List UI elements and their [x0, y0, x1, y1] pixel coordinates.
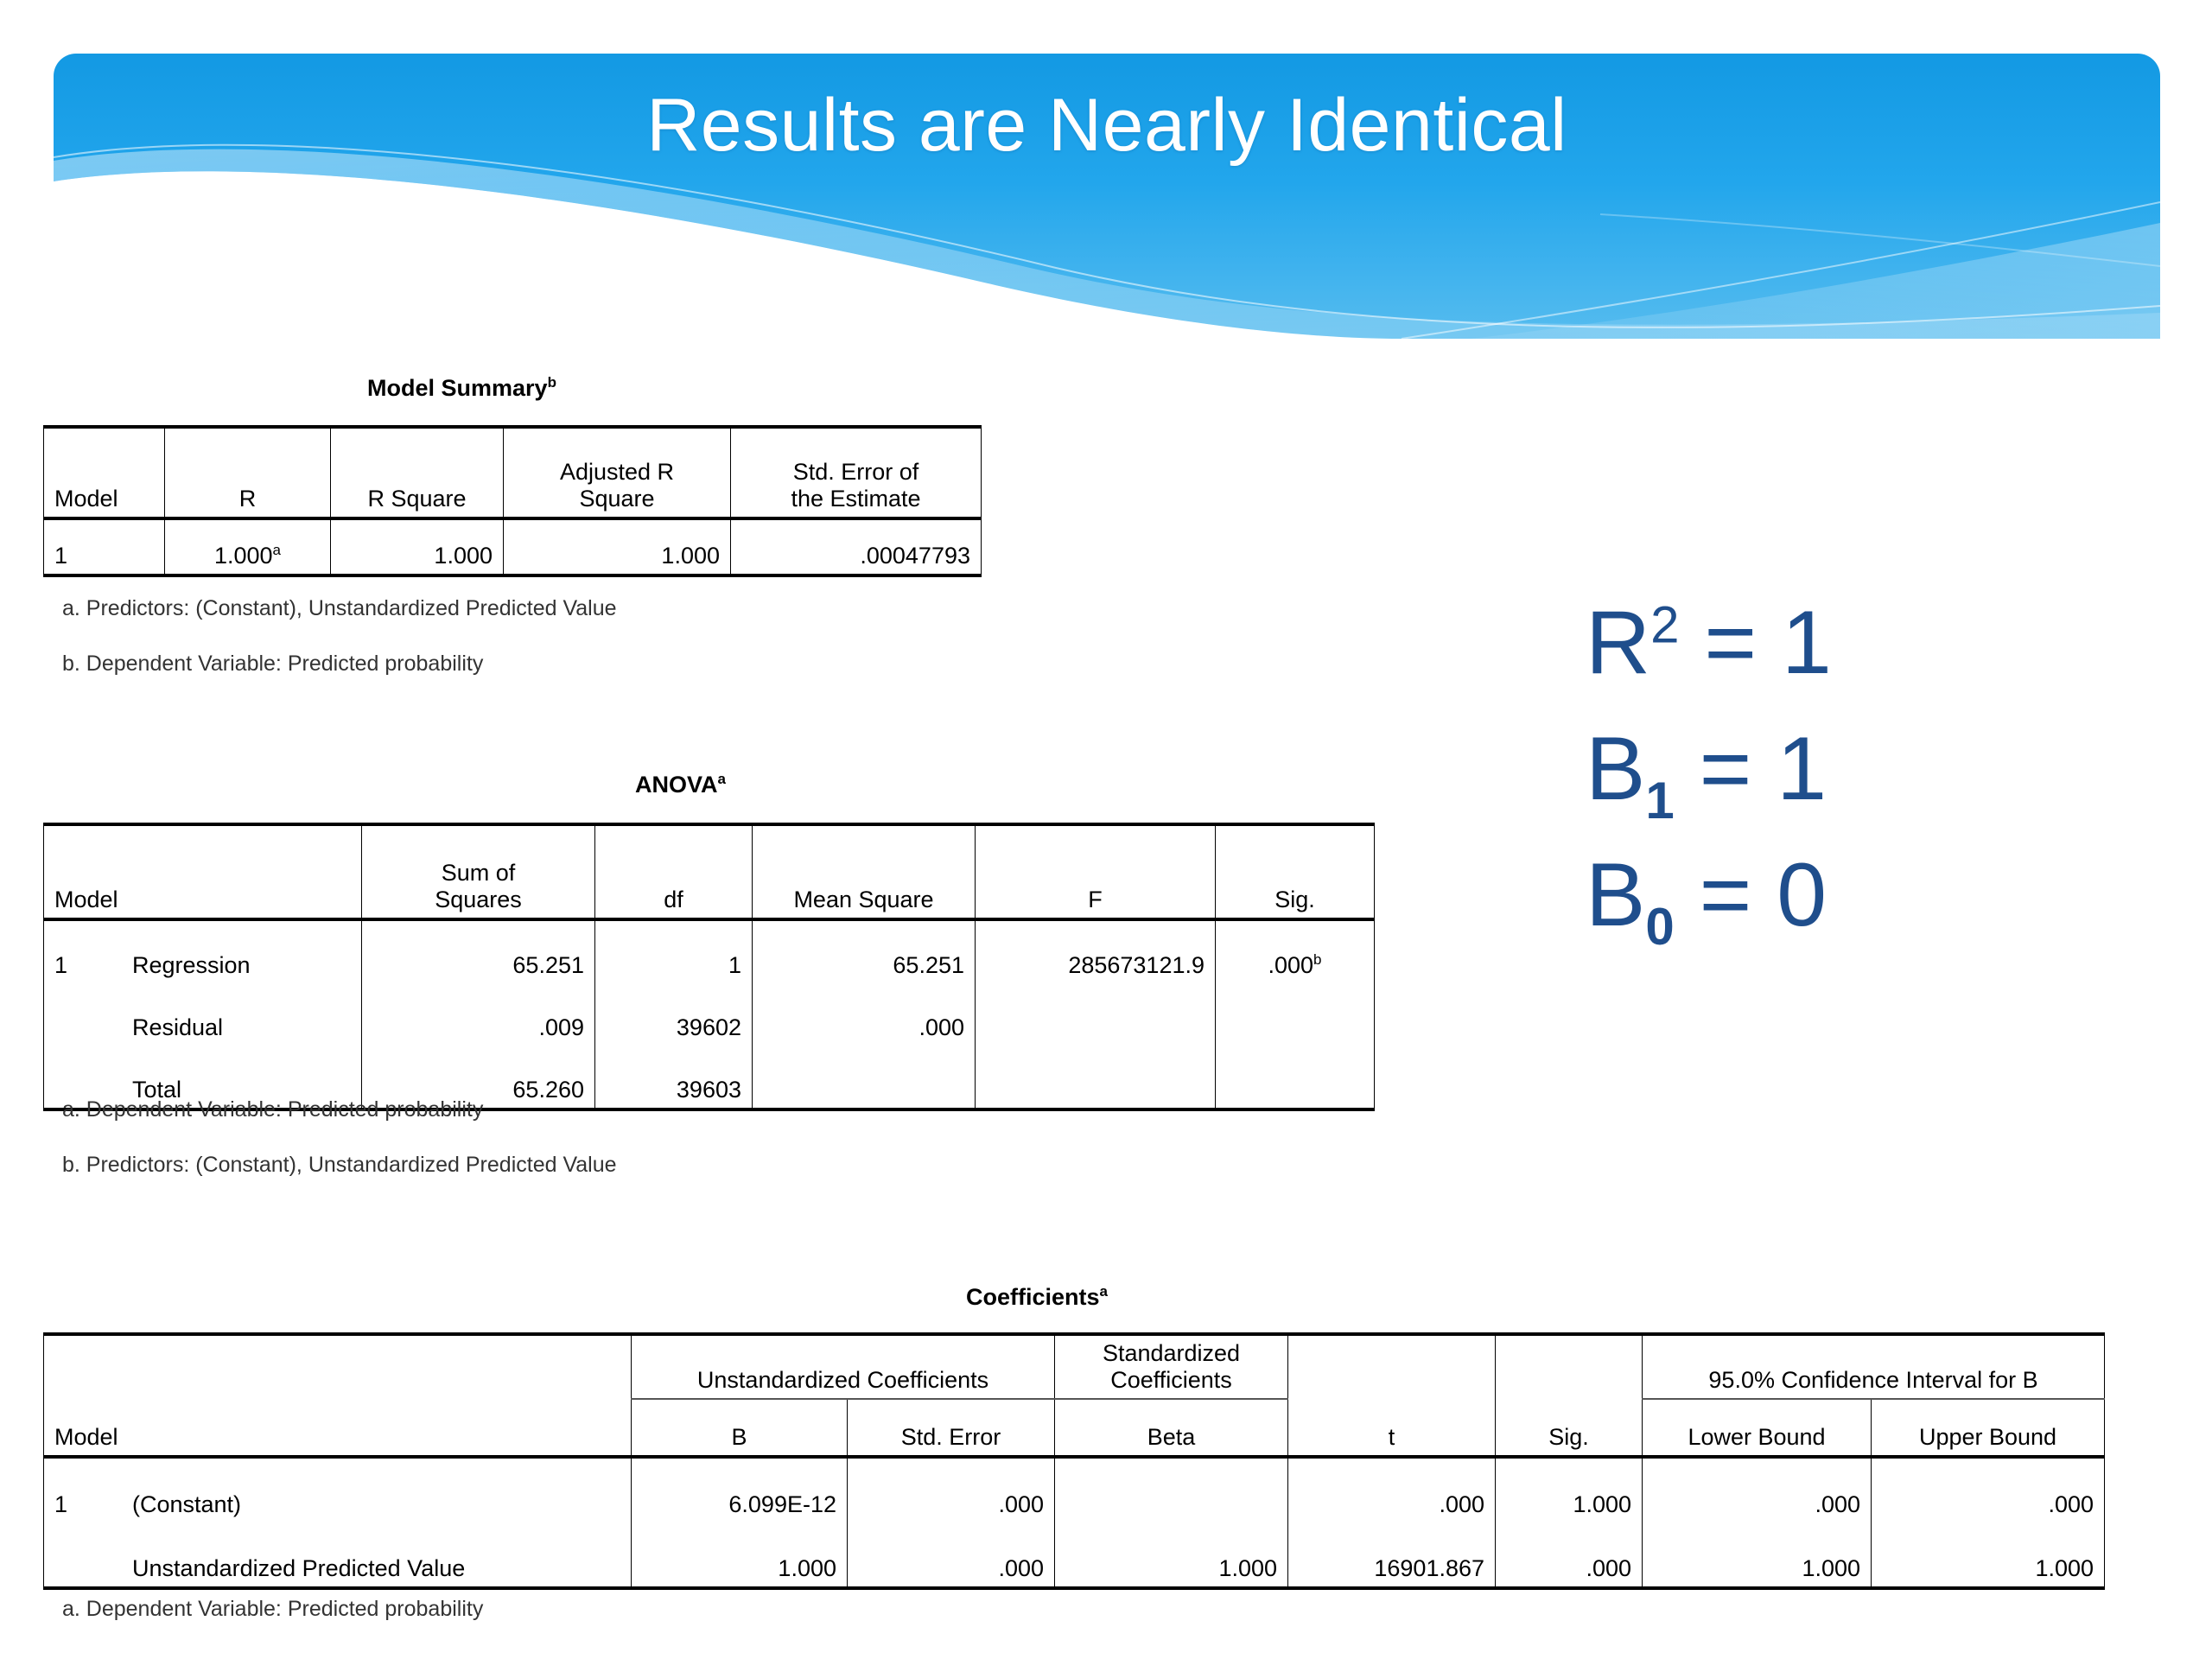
anova-footnote-b: b. Predictors: (Constant), Unstandardize… [62, 1153, 617, 1178]
formula-b1: B1 = 1 [1586, 722, 2069, 816]
cell-df: 39603 [595, 1046, 753, 1109]
page-title: Results are Nearly Identical [54, 78, 2160, 173]
coefficients-table: Model Unstandardized Coefficients Standa… [43, 1332, 2105, 1590]
model-summary-table: Model R R Square Adjusted R Square Std. … [43, 425, 982, 577]
col-header-sig: Sig. [1216, 824, 1375, 919]
table-row: 1(Constant) 6.099E-12 .000 .000 1.000 .0… [44, 1457, 2105, 1522]
cell-model: 1 [44, 518, 165, 575]
col-header-r-square: R Square [331, 427, 504, 518]
anova-table: Model Sum of Squares df Mean Square F Si… [43, 823, 1375, 1111]
table-group-header-row: Model Unstandardized Coefficients Standa… [44, 1334, 2105, 1399]
cell-sig: 1.000 [1496, 1457, 1643, 1522]
cell-std-error: .00047793 [731, 518, 982, 575]
model-summary-title: Model Summaryb [367, 375, 556, 402]
cell-f [976, 983, 1216, 1046]
col-header-upper-bound: Upper Bound [1872, 1399, 2105, 1457]
col-header-model: Model [44, 427, 165, 518]
coefficients-footnote-a: a. Dependent Variable: Predicted probabi… [62, 1597, 483, 1622]
col-header-adjusted-r-square: Adjusted R Square [504, 427, 731, 518]
cell-sig: .000 [1496, 1522, 1643, 1588]
col-header-std-error: Std. Error of the Estimate [731, 427, 982, 518]
cell-mean-square [753, 1046, 976, 1109]
cell-beta: 1.000 [1055, 1522, 1288, 1588]
row-label-residual: Residual [44, 983, 362, 1046]
cell-t: .000 [1288, 1457, 1496, 1522]
col-header-r: R [165, 427, 331, 518]
coefficients-title: Coefficientsa [966, 1284, 1108, 1311]
cell-sig: .000b [1216, 919, 1375, 983]
cell-lower-bound: .000 [1643, 1457, 1872, 1522]
model-summary-footnote-b: b. Dependent Variable: Predicted probabi… [62, 652, 483, 677]
row-label-constant: 1(Constant) [44, 1457, 632, 1522]
col-header-mean-square: Mean Square [753, 824, 976, 919]
cell-df: 1 [595, 919, 753, 983]
cell-f [976, 1046, 1216, 1109]
row-label-unstandardized-predicted-value: Unstandardized Predicted Value [44, 1522, 632, 1588]
cell-sig [1216, 1046, 1375, 1109]
col-header-beta: Beta [1055, 1399, 1288, 1457]
col-header-model: Model [44, 1334, 632, 1457]
cell-b: 6.099E-12 [632, 1457, 848, 1522]
formula-b0: B0 = 0 [1586, 849, 2069, 942]
col-header-b: B [632, 1399, 848, 1457]
table-header-row: Model R R Square Adjusted R Square Std. … [44, 427, 982, 518]
col-header-std-error: Std. Error [848, 1399, 1055, 1457]
formula-r-squared: R2 = 1 [1586, 596, 2069, 690]
cell-b: 1.000 [632, 1522, 848, 1588]
cell-r: 1.000a [165, 518, 331, 575]
formula-block: R2 = 1 B1 = 1 B0 = 0 [1586, 596, 2069, 975]
cell-upper-bound: .000 [1872, 1457, 2105, 1522]
col-header-lower-bound: Lower Bound [1643, 1399, 1872, 1457]
cell-adjusted-r-square: 1.000 [504, 518, 731, 575]
cell-df: 39602 [595, 983, 753, 1046]
col-header-standardized-coefficients: Standardized Coefficients [1055, 1334, 1288, 1399]
col-header-model: Model [44, 824, 362, 919]
cell-f: 285673121.9 [976, 919, 1216, 983]
table-row: Residual .009 39602 .000 [44, 983, 1375, 1046]
model-summary-footnote-a: a. Predictors: (Constant), Unstandardize… [62, 596, 617, 621]
anova-title: ANOVAa [635, 772, 726, 798]
col-header-sig: Sig. [1496, 1334, 1643, 1457]
col-header-confidence-interval: 95.0% Confidence Interval for B [1643, 1334, 2105, 1399]
cell-t: 16901.867 [1288, 1522, 1496, 1588]
col-header-sum-of-squares: Sum of Squares [362, 824, 595, 919]
cell-std-error: .000 [848, 1522, 1055, 1588]
cell-mean-square: 65.251 [753, 919, 976, 983]
row-label-regression: 1Regression [44, 919, 362, 983]
table-row: Unstandardized Predicted Value 1.000 .00… [44, 1522, 2105, 1588]
cell-mean-square: .000 [753, 983, 976, 1046]
col-header-f: F [976, 824, 1216, 919]
table-row: 1Regression 65.251 1 65.251 285673121.9 … [44, 919, 1375, 983]
cell-sig [1216, 983, 1375, 1046]
cell-beta [1055, 1457, 1288, 1522]
cell-sum-of-squares: .009 [362, 983, 595, 1046]
cell-r-square: 1.000 [331, 518, 504, 575]
table-header-row: Model Sum of Squares df Mean Square F Si… [44, 824, 1375, 919]
col-header-unstandardized-coefficients: Unstandardized Coefficients [632, 1334, 1055, 1399]
cell-upper-bound: 1.000 [1872, 1522, 2105, 1588]
cell-sum-of-squares: 65.251 [362, 919, 595, 983]
anova-footnote-a: a. Dependent Variable: Predicted probabi… [62, 1097, 483, 1122]
cell-lower-bound: 1.000 [1643, 1522, 1872, 1588]
col-header-t: t [1288, 1334, 1496, 1457]
col-header-df: df [595, 824, 753, 919]
cell-std-error: .000 [848, 1457, 1055, 1522]
table-row: 1 1.000a 1.000 1.000 .00047793 [44, 518, 982, 575]
